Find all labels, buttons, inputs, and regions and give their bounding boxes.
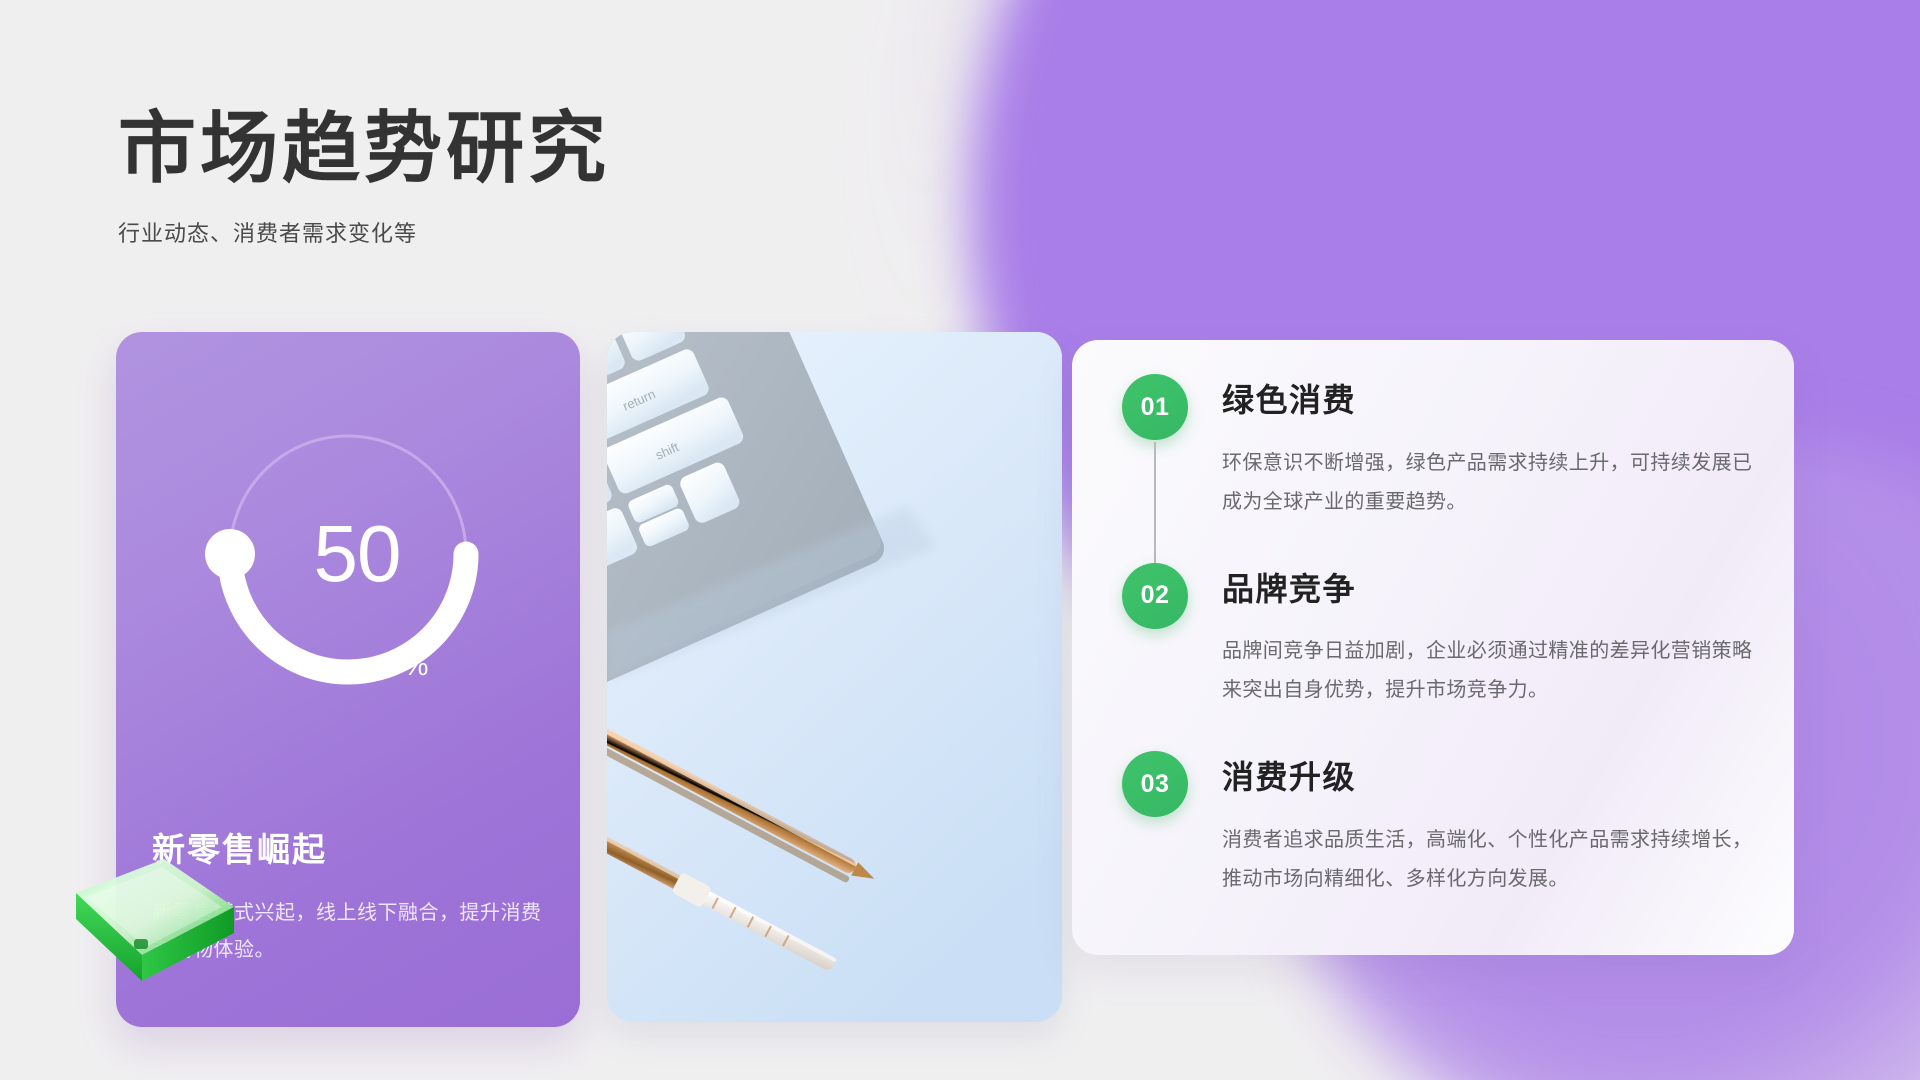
list-item[interactable]: 03 消费升级 消费者追求品质生活，高端化、个性化产品需求持续增长，推动市场向精… — [1100, 749, 1758, 899]
badge-number-03: 03 — [1122, 751, 1188, 817]
list-item-description: 环保意识不断增强，绿色产品需求持续上升，可持续发展已成为全球产业的重要趋势。 — [1222, 444, 1758, 522]
badge-label: 02 — [1141, 581, 1170, 610]
badge-label: 01 — [1141, 393, 1170, 422]
trend-items: 01 绿色消费 环保意识不断增强，绿色产品需求持续上升，可持续发展已成为全球产业… — [1100, 372, 1758, 899]
keyboard-photo-illustration: delete return shift command option +| {}… — [607, 332, 1062, 1022]
photo-card-keyboard[interactable]: delete return shift command option +| {}… — [607, 332, 1062, 1022]
stat-card-new-retail[interactable]: 50 % 新零售崛起 新零售模式兴起，线上线下融合，提升消费者购物体验。 — [116, 332, 580, 1027]
page-title: 市场趋势研究 — [118, 108, 610, 190]
list-item[interactable]: 02 品牌竞争 品牌间竞争日益加剧，企业必须通过精准的差异化营销策略来突出自身优… — [1100, 561, 1758, 711]
progress-gauge: 50 % — [212, 418, 484, 690]
header: 市场趋势研究 行业动态、消费者需求变化等 — [118, 108, 610, 248]
slide-root: 市场趋势研究 行业动态、消费者需求变化等 50 % 新零售崛起 新零售模式兴起，… — [0, 0, 1920, 1080]
gauge-unit: % — [404, 650, 429, 682]
list-item-description: 消费者追求品质生活，高端化、个性化产品需求持续增长，推动市场向精细化、多样化方向… — [1222, 821, 1758, 899]
stat-card-description: 新零售模式兴起，线上线下融合，提升消费者购物体验。 — [152, 895, 546, 969]
list-item-title: 消费升级 — [1222, 749, 1758, 799]
badge-number-01: 01 — [1122, 374, 1188, 440]
trend-list-panel: 01 绿色消费 环保意识不断增强，绿色产品需求持续上升，可持续发展已成为全球产业… — [1072, 340, 1794, 955]
page-subtitle: 行业动态、消费者需求变化等 — [118, 216, 610, 248]
gauge-value: 50 — [314, 514, 401, 594]
list-item[interactable]: 01 绿色消费 环保意识不断增强，绿色产品需求持续上升，可持续发展已成为全球产业… — [1100, 372, 1758, 522]
badge-label: 03 — [1141, 770, 1170, 799]
badge-number-02: 02 — [1122, 563, 1188, 629]
stat-card-title: 新零售崛起 — [152, 823, 546, 871]
list-item-description: 品牌间竞争日益加剧，企业必须通过精准的差异化营销策略来突出自身优势，提升市场竞争… — [1222, 632, 1758, 710]
gauge-readout: 50 % — [212, 418, 484, 690]
list-item-title: 绿色消费 — [1222, 372, 1758, 422]
stat-card-body: 新零售崛起 新零售模式兴起，线上线下融合，提升消费者购物体验。 — [152, 823, 546, 969]
list-item-title: 品牌竞争 — [1222, 561, 1758, 611]
timeline-connector — [1154, 442, 1156, 572]
